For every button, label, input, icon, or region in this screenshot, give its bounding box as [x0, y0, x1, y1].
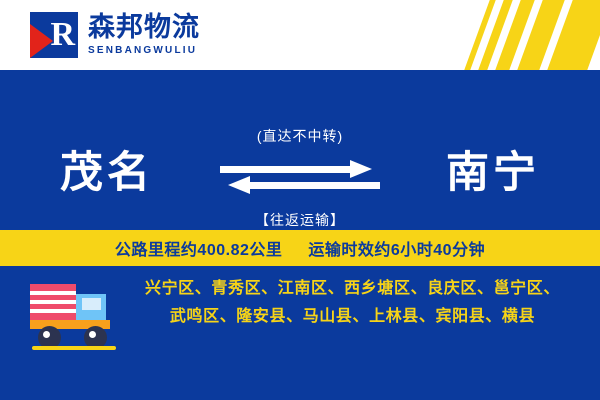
logo-text-block: 森邦物流 SENBANGWULIU: [88, 12, 200, 58]
destination-city: 南宁: [446, 138, 540, 200]
header-bar: R 森邦物流 SENBANGWULIU: [0, 0, 600, 70]
distance-label: 公路里程约400.82公里: [115, 236, 282, 260]
duration-label: 运输时效约6小时40分钟: [308, 236, 485, 260]
round-trip-tag: 【往返运输】: [210, 210, 390, 230]
arrow-head-right: [350, 160, 372, 178]
coverage-districts: 兴宁区、青秀区、江南区、西乡塘区、良庆区、邕宁区、 武鸣区、隆安县、马山县、上林…: [135, 275, 570, 331]
truck-ground-line: [32, 346, 116, 350]
route-middle: (直达不中转) 【往返运输】: [210, 98, 390, 248]
route-row: 茂名 (直达不中转) 【往返运输】 南宁: [0, 98, 600, 248]
company-logo: R 森邦物流 SENBANGWULIU: [30, 12, 200, 58]
arrow-bar-left: [248, 182, 380, 189]
truck-hub-rear: [43, 331, 50, 338]
info-bar: 公路里程约400.82公里 运输时效约6小时40分钟: [0, 230, 600, 266]
logo-letter: R: [50, 15, 75, 55]
header-stripes-decoration: [380, 0, 600, 70]
arrow-head-left: [228, 176, 250, 194]
direct-route-tag: (直达不中转): [210, 126, 390, 146]
arrow-bar-right: [220, 166, 352, 173]
truck-box-stripe-3: [30, 309, 76, 313]
main-panel: 茂名 (直达不中转) 【往返运输】 南宁 公路里程约400.82公里 运输时效约…: [0, 70, 600, 400]
truck-hub-front: [89, 331, 96, 338]
company-name-cn: 森邦物流: [88, 12, 200, 42]
truck-cab-window: [82, 298, 101, 310]
origin-city: 茂名: [60, 138, 154, 200]
logistics-route-poster: R 森邦物流 SENBANGWULIU 茂名 (直达不中转): [0, 0, 600, 400]
bidirectional-arrow-icon: [210, 158, 390, 200]
districts-line-1: 兴宁区、青秀区、江南区、西乡塘区、良庆区、邕宁区、: [135, 275, 570, 303]
truck-box-stripe-2: [30, 300, 76, 304]
districts-line-2: 武鸣区、隆安县、马山县、上林县、宾阳县、横县: [135, 303, 570, 331]
delivery-truck-icon: [30, 276, 126, 356]
logo-mark-icon: R: [30, 12, 78, 58]
company-name-en: SENBANGWULIU: [88, 44, 200, 58]
truck-box-stripe-1: [30, 291, 76, 295]
